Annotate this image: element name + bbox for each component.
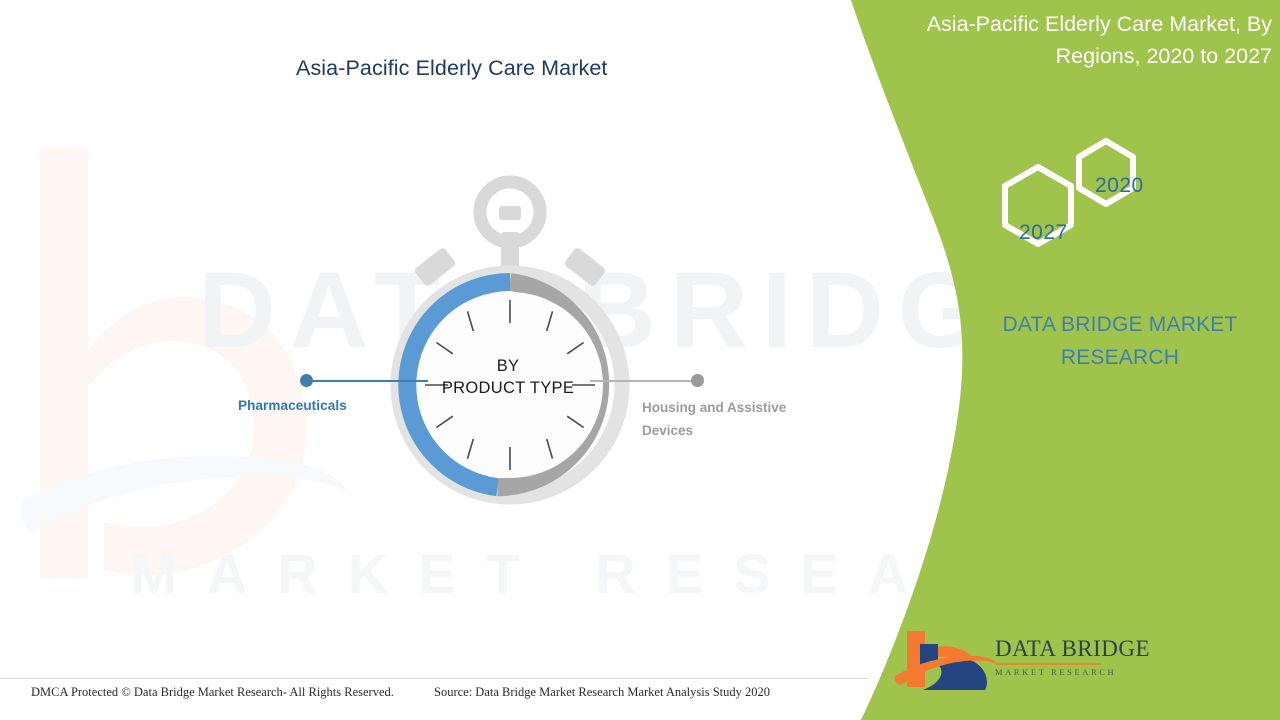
chart-center-line-1: BY [428,355,588,377]
footer-source: Source: Data Bridge Market Research Mark… [434,685,770,700]
callout-connector-left [308,380,428,382]
panel-brand-name: DATA BRIDGE MARKET RESEARCH [960,308,1280,374]
callout-label-pharmaceuticals: Pharmaceuticals [238,398,438,413]
panel-brand-line-1: DATA BRIDGE MARKET [960,308,1280,341]
callout-label-housing-and-assistive-devices: Housing and Assistive Devices [642,396,828,442]
logo-wordmark: DATA BRIDGE [995,636,1115,662]
logo-divider [996,663,1101,665]
hexagon-year-2027-label: 2027 [1019,221,1068,245]
panel-brand-line-2: RESEARCH [960,341,1280,374]
stopwatch-crown [480,182,540,270]
chart-center-line-2: PRODUCT TYPE [428,377,588,399]
footer-copyright: DMCA Protected © Data Bridge Market Rese… [31,685,394,700]
logo-tagline: MARKET RESEARCH [995,667,1115,677]
page-title: Asia-Pacific Elderly Care Market [296,56,607,81]
hexagon-year-badges [975,135,1180,285]
chart-center-label: BY PRODUCT TYPE [428,355,588,399]
callout-dot-right [691,374,704,387]
callout-dot-left [300,374,313,387]
hexagon-year-2020-label: 2020 [1095,174,1144,198]
stopwatch-donut-chart [360,160,660,505]
infographic-canvas: DATA BRIDGE MARKET RESEARCH Asia-Pacific… [0,0,1280,720]
logo-wordmark-block: DATA BRIDGE MARKET RESEARCH [995,636,1115,677]
callout-connector-right [590,380,698,382]
footer-divider [0,678,868,679]
panel-title: Asia-Pacific Elderly Care Market, By Reg… [880,8,1272,72]
